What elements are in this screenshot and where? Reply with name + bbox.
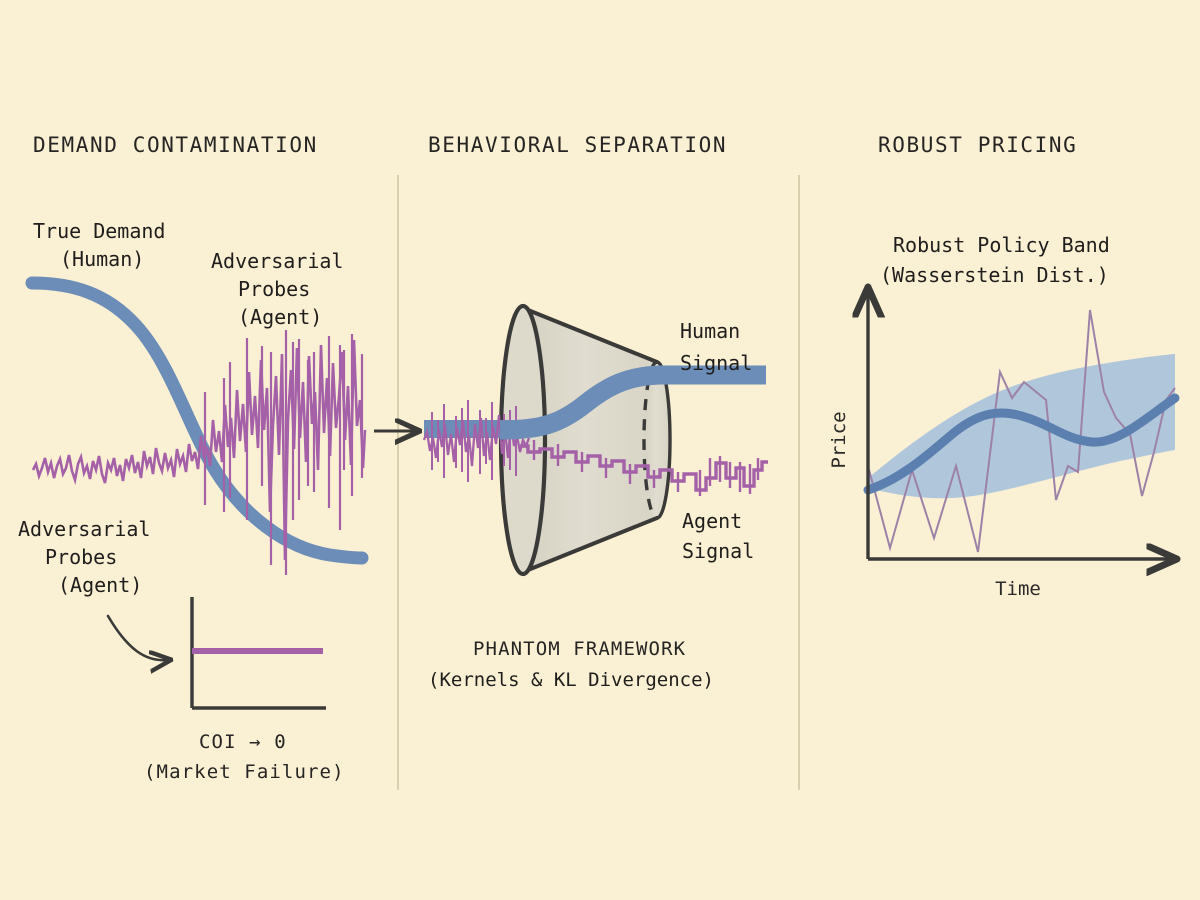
label-robust-policy-band-line1: Robust Policy Band bbox=[893, 233, 1110, 257]
coi-mini-chart bbox=[192, 597, 326, 708]
diagram-canvas: DEMAND CONTAMINATION True Demand (Human)… bbox=[0, 0, 1200, 900]
coi-caption-line2: (Market Failure) bbox=[144, 761, 345, 783]
label-true-demand-line1: True Demand bbox=[33, 219, 165, 243]
label-agent-signal-line2: Signal bbox=[682, 539, 754, 563]
panel-title-robust-pricing: ROBUST PRICING bbox=[878, 133, 1077, 157]
label-true-demand-line2: (Human) bbox=[60, 247, 144, 271]
label-probes-bottom-line1: Adversarial bbox=[18, 517, 150, 541]
phantom-framework-caption-line2: (Kernels & KL Divergence) bbox=[428, 669, 714, 691]
label-human-signal-line2: Signal bbox=[680, 351, 752, 375]
panel-title-behavioral-separation: BEHAVIORAL SEPARATION bbox=[428, 133, 727, 157]
label-agent-signal-line1: Agent bbox=[682, 509, 742, 533]
label-probes-top-line2: Probes bbox=[238, 277, 310, 301]
pointer-arrow-to-coi-chart bbox=[108, 616, 168, 660]
label-human-signal-line1: Human bbox=[680, 319, 740, 343]
panel-title-demand-contamination: DEMAND CONTAMINATION bbox=[33, 133, 318, 157]
price-axis-label: Price bbox=[828, 411, 850, 468]
label-probes-top-line1: Adversarial bbox=[211, 249, 343, 273]
diagram-svg: DEMAND CONTAMINATION True Demand (Human)… bbox=[0, 0, 1200, 900]
label-robust-policy-band-line2: (Wasserstein Dist.) bbox=[880, 263, 1109, 287]
label-probes-top-line3: (Agent) bbox=[238, 305, 322, 329]
phantom-framework-caption-line1: PHANTOM FRAMEWORK bbox=[473, 638, 686, 660]
coi-caption-line1: COI → 0 bbox=[199, 731, 287, 753]
label-probes-bottom-line3: (Agent) bbox=[58, 573, 142, 597]
label-probes-bottom-line2: Probes bbox=[45, 545, 117, 569]
time-axis-label: Time bbox=[995, 578, 1041, 600]
